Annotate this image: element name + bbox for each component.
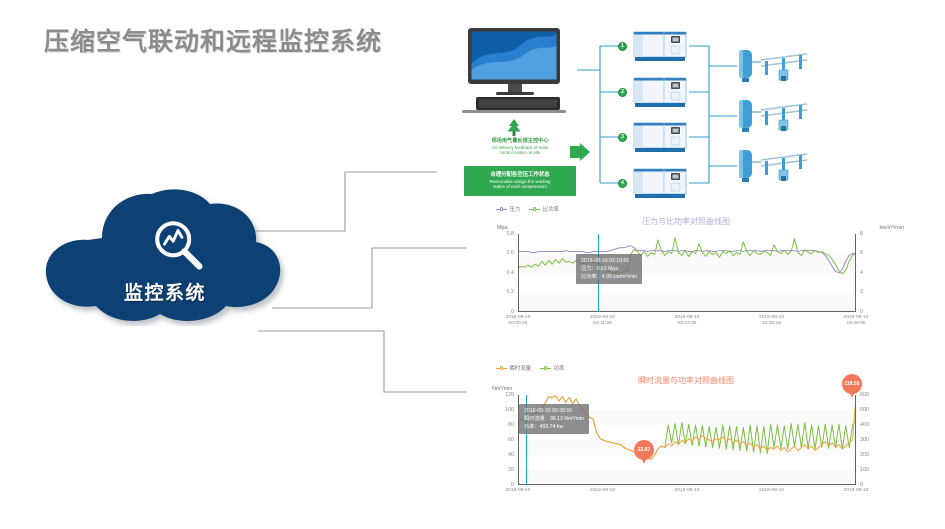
page-title: 压缩空气联动和远程监控系统 (44, 22, 382, 58)
axis-tick: 6 (860, 250, 863, 256)
axis-tick: 60 (466, 437, 514, 443)
legend-marker-flow (496, 366, 507, 371)
magnifier-chart-icon (148, 216, 210, 278)
air-tank-group-2 (737, 96, 815, 136)
monitoring-cloud[interactable]: 监控系统 (40, 186, 290, 326)
legend-marker-specific-power (529, 207, 540, 212)
axis-tick: 300 (860, 437, 869, 443)
axis-tick: 200 (860, 452, 869, 458)
chart1-legend: 压力 比功率 (496, 205, 559, 213)
air-compressor-3 (633, 120, 687, 154)
air-compressor-2 (633, 75, 687, 109)
legend-label: 瞬时流量 (510, 364, 532, 372)
axis-tick: 2018-08-1000:00:15 (492, 315, 544, 327)
axis-tick: 2018-08-10 (830, 488, 882, 494)
slide-canvas: 压缩空气联动和远程监控系统 监控系统 (0, 0, 945, 529)
legend-label: 功率 (554, 364, 565, 372)
axis-tick: 0.8 (466, 231, 514, 237)
axis-tick: 0.6 (466, 250, 514, 256)
axis-tick: 0 (466, 482, 514, 488)
axis-tick: 120 (466, 392, 514, 398)
tooltip-line-2: 功率：493.74 kw (524, 423, 584, 431)
air-compressor-1 (633, 29, 687, 63)
air-tank-group-3 (737, 146, 815, 186)
axis-tick: 40 (466, 452, 514, 458)
axis-tick: 100 (860, 467, 869, 473)
axis-tick: 2018-08-1016:46:55 (830, 315, 882, 327)
node-dot-2: 2 (618, 88, 627, 97)
axis-tick: 600 (860, 392, 869, 398)
chart1-legend-item-1[interactable]: 比功率 (529, 205, 559, 213)
air-compressor-4 (633, 166, 687, 200)
axis-tick: 400 (860, 422, 869, 428)
axis-tick: 2 (860, 289, 863, 295)
tooltip-line-1: 压力：0.63 Mpa (581, 265, 637, 273)
legend-marker-pressure (496, 207, 507, 212)
chart1-axis-lines (518, 234, 856, 312)
axis-tick: 4 (860, 270, 863, 276)
axis-tick: 2018-08-1008:23:35 (661, 315, 713, 327)
axis-tick: 20 (466, 467, 514, 473)
tooltip-line-1: 瞬时流量：98.13 Nm³/min (524, 415, 584, 423)
axis-tick: 2018-08-1012:35:15 (746, 315, 798, 327)
axis-tick: 2018-08-10 (746, 488, 798, 494)
node-dot-3: 3 (618, 133, 627, 142)
system-diagram-panel: 现场用气量反馈主控中心 Air delivery feedback of mai… (437, 18, 937, 203)
diagram-wiring (437, 18, 937, 203)
max-marker-label: 118.55 (842, 374, 862, 394)
tooltip-timestamp: 2018-08-10 00:38:55 (524, 407, 584, 415)
chart2-tooltip: 2018-08-10 00:38:55 瞬时流量：98.13 Nm³/min 功… (519, 404, 589, 434)
pressure-chart-panel[interactable]: 压力 比功率 压力与比功率对照曲线图 Mpa kw/m³/min 0.80.60… (466, 202, 906, 335)
axis-tick: 80 (466, 422, 514, 428)
axis-tick: 0 (466, 309, 514, 315)
flow-chart-panel[interactable]: 瞬时流量 功率 瞬时流量与功率对照曲线图 Nm³/min 12010080604… (466, 362, 906, 510)
legend-marker-power (540, 366, 551, 371)
node-dot-1: 1 (618, 42, 627, 51)
axis-tick: 0 (860, 482, 863, 488)
legend-label: 比功率 (543, 205, 559, 213)
axis-tick: 100 (466, 407, 514, 413)
cloud-label: 监控系统 (40, 278, 290, 305)
node-dot-4: 4 (618, 179, 627, 188)
chart1-tooltip: 2018-08-10 02:19:55 压力：0.63 Mpa 比功率：4.99… (576, 254, 642, 284)
axis-tick: 8 (860, 231, 863, 237)
axis-tick: 2018-08-10 (661, 488, 713, 494)
axis-tick: 0.2 (466, 289, 514, 295)
axis-tick: 2018-08-1004:11:55 (577, 315, 629, 327)
chart1-y2-axis-unit: kw/m³/min (879, 225, 904, 231)
axis-tick: 2018-08-10 (577, 488, 629, 494)
legend-label: 压力 (510, 205, 521, 213)
axis-tick: 500 (860, 407, 869, 413)
chart2-legend-item-0[interactable]: 瞬时流量 (496, 364, 531, 372)
chart2-legend-item-1[interactable]: 功率 (540, 364, 564, 372)
tooltip-line-2: 比功率：4.99 kw/m³/min (581, 273, 637, 281)
axis-tick: 0.4 (466, 270, 514, 276)
chart1-title: 压力与比功率对照曲线图 (466, 216, 906, 227)
axis-tick: 2018-08-10 (492, 488, 544, 494)
air-tank-group-1 (737, 46, 815, 86)
chart2-legend: 瞬时流量 功率 (496, 364, 564, 372)
tooltip-timestamp: 2018-08-10 02:19:55 (581, 257, 637, 265)
axis-tick: 0 (860, 309, 863, 315)
min-marker-label: 33.87 (634, 440, 654, 460)
chart1-legend-item-0[interactable]: 压力 (496, 205, 520, 213)
chart2-title: 瞬时流量与功率对照曲线图 (466, 375, 906, 386)
